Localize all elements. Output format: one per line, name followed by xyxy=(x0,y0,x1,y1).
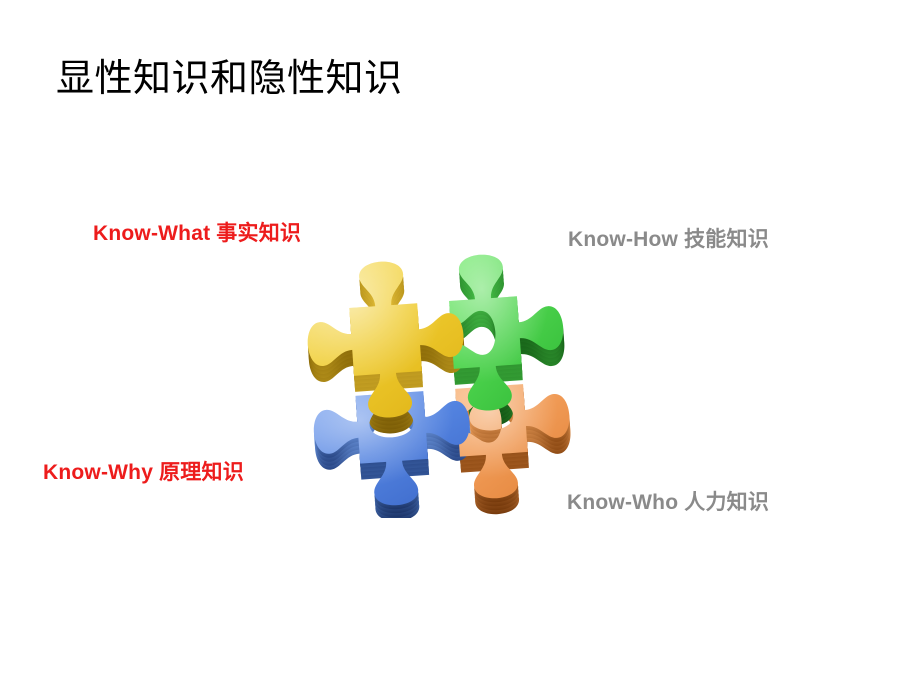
page-title: 显性知识和隐性知识 xyxy=(56,57,403,102)
slide-canvas: 显性知识和隐性知识 Know-What 事实知识 Know-How 技能知识 K… xyxy=(0,0,900,675)
puzzle-piece-yellow xyxy=(302,256,469,423)
label-know-why: Know-Why 原理知识 xyxy=(43,456,244,486)
jigsaw-puzzle-graphic xyxy=(258,228,618,518)
